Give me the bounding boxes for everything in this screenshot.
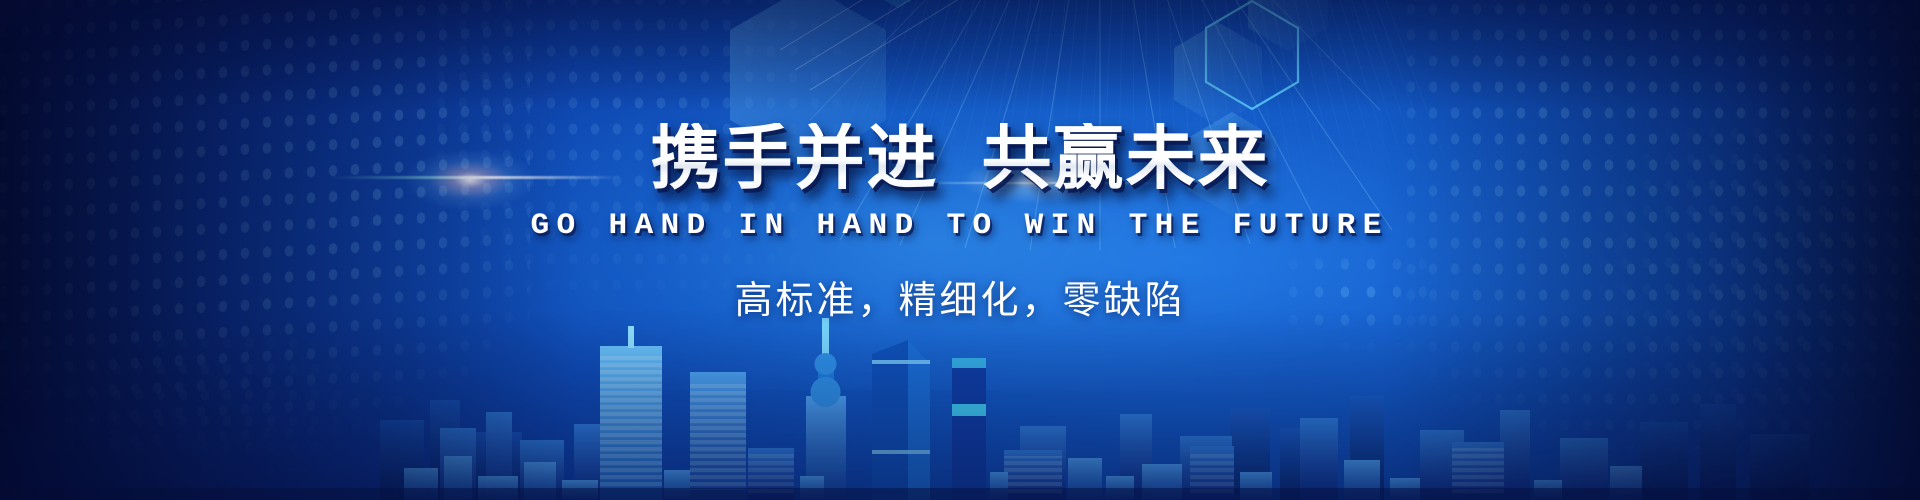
top-bottom-vignette — [0, 0, 1920, 500]
promotional-banner: 携手并进 共赢未来 GO HAND IN HAND TO WIN THE FUT… — [0, 0, 1920, 500]
